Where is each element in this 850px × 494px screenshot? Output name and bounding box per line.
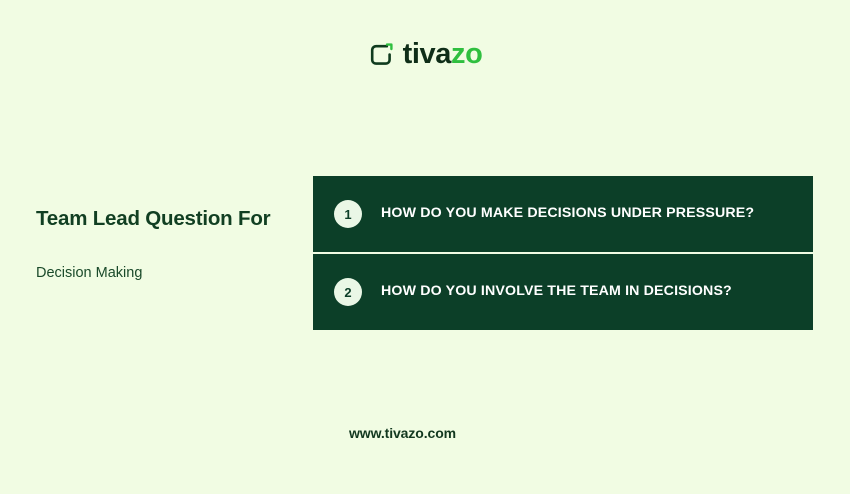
brand-wordmark-accent: zo — [451, 38, 482, 70]
footer-website[interactable]: www.tivazo.com — [0, 425, 805, 441]
brand-lockup: tivazo — [0, 40, 850, 69]
question-text: HOW DO YOU INVOLVE THE TEAM IN DECISIONS… — [381, 283, 732, 300]
page-title: Team Lead Question For — [36, 206, 298, 232]
brand-wordmark-primary: tiva — [403, 38, 451, 70]
question-number-badge: 1 — [334, 200, 362, 228]
brand-wordmark: tivazo — [403, 40, 483, 69]
question-card[interactable]: 2 HOW DO YOU INVOLVE THE TEAM IN DECISIO… — [313, 254, 813, 330]
slide-canvas: tivazo Team Lead Question For Decision M… — [0, 0, 850, 494]
headline-block: Team Lead Question For Decision Making — [36, 206, 298, 282]
question-number-badge: 2 — [334, 278, 362, 306]
question-text: HOW DO YOU MAKE DECISIONS UNDER PRESSURE… — [381, 205, 754, 222]
tivazo-bracket-logo-icon — [368, 42, 394, 68]
question-card[interactable]: 1 HOW DO YOU MAKE DECISIONS UNDER PRESSU… — [313, 176, 813, 252]
page-subtitle: Decision Making — [36, 232, 298, 283]
question-list: 1 HOW DO YOU MAKE DECISIONS UNDER PRESSU… — [313, 176, 813, 330]
